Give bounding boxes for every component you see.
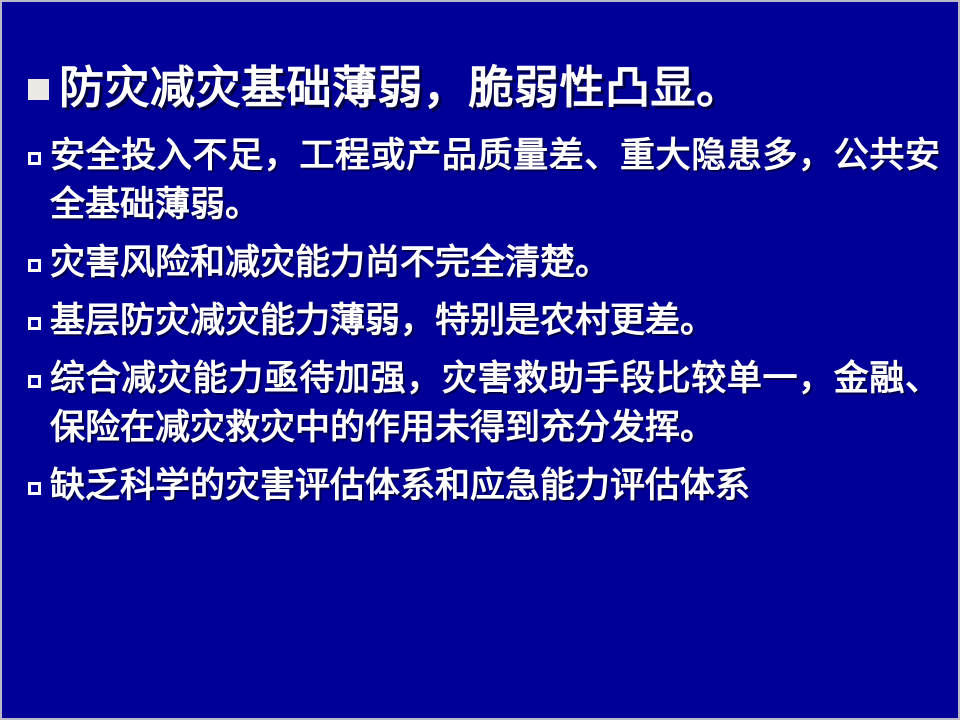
bullet-list: 安全投入不足，工程或产品质量差、重大隐患多，公共安全基础薄弱。 灾害风险和减灾能…	[28, 132, 940, 520]
list-item: 综合减灾能力亟待加强，灾害救助手段比较单一，金融、保险在减灾救灾中的作用未得到充…	[28, 355, 940, 453]
hollow-square-bullet-icon	[28, 375, 41, 388]
list-item: 安全投入不足，工程或产品质量差、重大隐患多，公共安全基础薄弱。	[28, 132, 940, 230]
list-item-text: 灾害风险和减灾能力尚不完全清楚。	[50, 239, 940, 288]
presentation-slide: 防灾减灾基础薄弱，脆弱性凸显。 安全投入不足，工程或产品质量差、重大隐患多，公共…	[0, 0, 960, 720]
list-item-text: 安全投入不足，工程或产品质量差、重大隐患多，公共安全基础薄弱。	[50, 132, 940, 230]
list-item: 缺乏科学的灾害评估体系和应急能力评估体系	[28, 462, 940, 511]
slide-title-row: 防灾减灾基础薄弱，脆弱性凸显。	[28, 60, 944, 116]
hollow-square-bullet-icon	[28, 152, 41, 165]
slide-title: 防灾减灾基础薄弱，脆弱性凸显。	[59, 60, 944, 116]
list-item-text: 缺乏科学的灾害评估体系和应急能力评估体系	[50, 462, 940, 511]
list-item: 灾害风险和减灾能力尚不完全清楚。	[28, 239, 940, 288]
list-item-text: 基层防灾减灾能力薄弱，特别是农村更差。	[50, 297, 940, 346]
filled-square-bullet-icon	[28, 79, 49, 100]
hollow-square-bullet-icon	[28, 482, 41, 495]
list-item: 基层防灾减灾能力薄弱，特别是农村更差。	[28, 297, 940, 346]
list-item-text: 综合减灾能力亟待加强，灾害救助手段比较单一，金融、保险在减灾救灾中的作用未得到充…	[50, 355, 940, 453]
hollow-square-bullet-icon	[28, 317, 41, 330]
hollow-square-bullet-icon	[28, 259, 41, 272]
